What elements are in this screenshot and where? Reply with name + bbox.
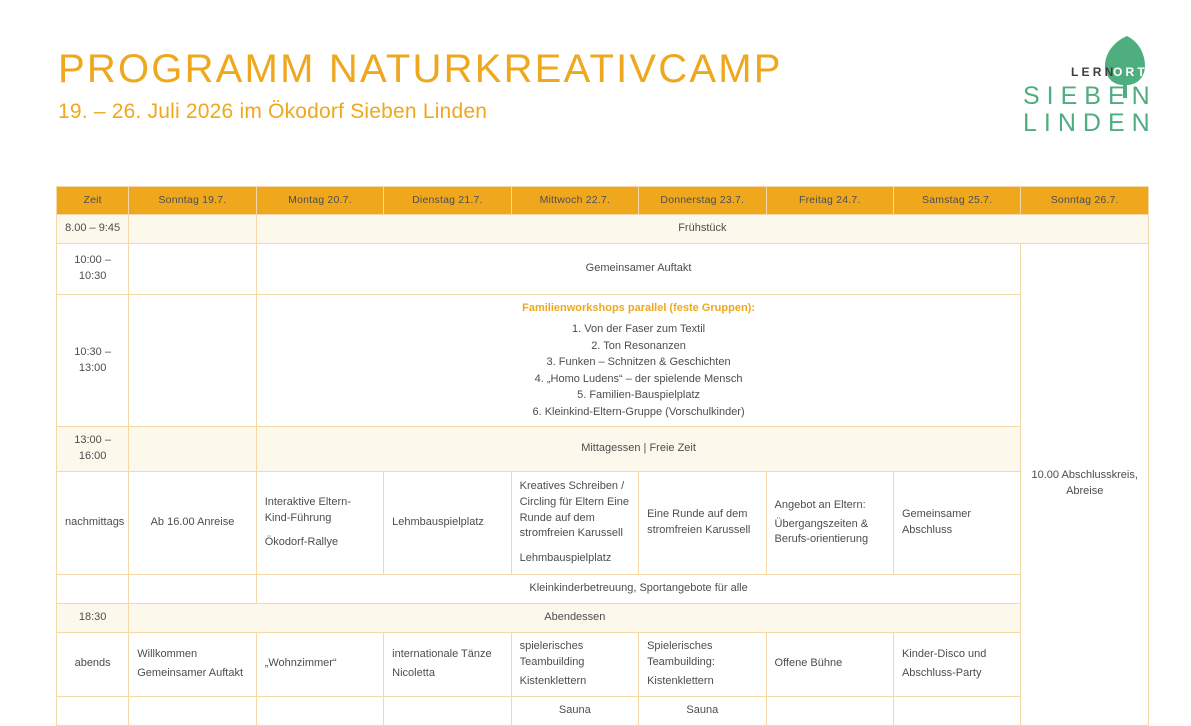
cell-workshops-sunday19 bbox=[129, 295, 256, 427]
column-header-mittwoch-22: Mittwoch 22.7. bbox=[511, 187, 638, 215]
time-label-lunch: 13:00 – 16:00 bbox=[57, 427, 129, 472]
workshop-item-1: 1. Von der Faser zum Textil bbox=[265, 321, 1013, 338]
workshop-item-6: 6. Kleinkind-Eltern-Gruppe (Vorschulkind… bbox=[265, 404, 1013, 421]
table-row-lunch: 13:00 – 16:00 Mittagessen | Freie Zeit bbox=[57, 427, 1149, 472]
evening-tuesday-line1: internationale Tänze bbox=[392, 647, 502, 663]
time-label-breakfast: 8.00 – 9:45 bbox=[57, 215, 129, 244]
table-header: Zeit Sonntag 19.7. Montag 20.7. Dienstag… bbox=[57, 187, 1149, 215]
cell-afternoon-tuesday: Lehmbauspielplatz bbox=[384, 471, 511, 574]
column-header-sonntag-26: Sonntag 26.7. bbox=[1021, 187, 1149, 215]
workshop-item-2: 2. Ton Resonanzen bbox=[265, 338, 1013, 355]
time-label-dinner: 18:30 bbox=[57, 603, 129, 632]
afternoon-wednesday-line2: Lehmbauspielplatz bbox=[520, 551, 630, 567]
abschluss-line2: Abreise bbox=[1066, 485, 1103, 497]
cell-sauna-wednesday: Sauna bbox=[511, 696, 638, 725]
logo-sieben-linden: LERN ORT SIEBEN LINDEN bbox=[1009, 34, 1159, 139]
cell-sauna-tuesday bbox=[384, 696, 511, 725]
afternoon-wednesday-line1: Kreatives Schreiben / Circling für Elter… bbox=[520, 479, 630, 543]
afternoon-friday-line2: Übergangszeiten & Berufs-orientierung bbox=[775, 517, 885, 549]
cell-sauna-monday bbox=[256, 696, 383, 725]
workshop-item-4: 4. „Homo Ludens“ – der spielende Mensch bbox=[265, 371, 1013, 388]
cell-breakfast-all: Frühstück bbox=[256, 215, 1148, 244]
logo-ort-text: ORT bbox=[1113, 65, 1148, 79]
evening-saturday-line2: Abschluss-Party bbox=[902, 666, 1012, 682]
cell-evening-monday: „Wohnzimmer“ bbox=[256, 632, 383, 696]
cell-sunday26-abschluss: 10.00 Abschlusskreis, Abreise bbox=[1021, 244, 1149, 725]
cell-lunch-sunday19 bbox=[129, 427, 256, 472]
evening-wednesday-line2: Kistenklettern bbox=[520, 674, 630, 690]
column-header-montag-20: Montag 20.7. bbox=[256, 187, 383, 215]
cell-dinner-all: Abendessen bbox=[129, 603, 1021, 632]
cell-auftakt-common: Gemeinsamer Auftakt bbox=[256, 244, 1021, 295]
page-header: PROGRAMM NATURKREATIVCAMP 19. – 26. Juli… bbox=[0, 0, 1191, 170]
workshops-heading: Familienworkshops parallel (feste Gruppe… bbox=[265, 301, 1013, 317]
cell-evening-thursday: Spielerisches Teambuilding: Kistenklette… bbox=[639, 632, 766, 696]
cell-childcare-all: Kleinkinderbetreuung, Sportangebote für … bbox=[256, 574, 1021, 603]
logo-lern-text: LERN bbox=[1071, 65, 1116, 79]
cell-afternoon-saturday: Gemeinsamer Abschluss bbox=[893, 471, 1020, 574]
afternoon-monday-line1: Interaktive Eltern-Kind-Führung bbox=[265, 495, 375, 527]
workshop-item-5: 5. Familien-Bauspielplatz bbox=[265, 387, 1013, 404]
cell-afternoon-monday: Interaktive Eltern-Kind-Führung Ökodorf-… bbox=[256, 471, 383, 574]
cell-afternoon-sunday19: Ab 16.00 Anreise bbox=[129, 471, 256, 574]
table-row-sauna: Sauna Sauna bbox=[57, 696, 1149, 725]
cell-childcare-sunday19 bbox=[129, 574, 256, 603]
page-subtitle: 19. – 26. Juli 2026 im Ökodorf Sieben Li… bbox=[58, 100, 783, 124]
schedule-table: Zeit Sonntag 19.7. Montag 20.7. Dienstag… bbox=[56, 186, 1149, 726]
evening-thursday-line2: Kistenklettern bbox=[647, 674, 757, 690]
page-title: PROGRAMM NATURKREATIVCAMP bbox=[58, 48, 783, 90]
evening-sunday19-line1: Willkommen bbox=[137, 647, 247, 663]
cell-childcare-time bbox=[57, 574, 129, 603]
logo-linden-text: LINDEN bbox=[1023, 109, 1157, 137]
time-label-evening: abends bbox=[57, 632, 129, 696]
cell-evening-sunday19: Willkommen Gemeinsamer Auftakt bbox=[129, 632, 256, 696]
time-label-auftakt: 10:00 – 10:30 bbox=[57, 244, 129, 295]
table-row-dinner: 18:30 Abendessen bbox=[57, 603, 1149, 632]
column-header-donnerstag-23: Donnerstag 23.7. bbox=[639, 187, 766, 215]
column-header-dienstag-21: Dienstag 21.7. bbox=[384, 187, 511, 215]
workshop-item-3: 3. Funken – Schnitzen & Geschichten bbox=[265, 354, 1013, 371]
cell-sauna-thursday: Sauna bbox=[639, 696, 766, 725]
column-header-zeit: Zeit bbox=[57, 187, 129, 215]
cell-afternoon-friday: Angebot an Eltern: Übergangszeiten & Ber… bbox=[766, 471, 893, 574]
column-header-freitag-24: Freitag 24.7. bbox=[766, 187, 893, 215]
cell-evening-wednesday: spielerisches Teambuilding Kistenkletter… bbox=[511, 632, 638, 696]
cell-sauna-sunday19 bbox=[129, 696, 256, 725]
time-label-afternoon: nachmittags bbox=[57, 471, 129, 574]
cell-breakfast-sunday19 bbox=[129, 215, 256, 244]
cell-workshops-list: Familienworkshops parallel (feste Gruppe… bbox=[256, 295, 1021, 427]
evening-tuesday-line2: Nicoletta bbox=[392, 666, 502, 682]
table-row-childcare: Kleinkinderbetreuung, Sportangebote für … bbox=[57, 574, 1149, 603]
column-header-sonntag-19: Sonntag 19.7. bbox=[129, 187, 256, 215]
cell-evening-tuesday: internationale Tänze Nicoletta bbox=[384, 632, 511, 696]
table-row-workshops: 10:30 – 13:00 Familienworkshops parallel… bbox=[57, 295, 1149, 427]
evening-sunday19-line2: Gemeinsamer Auftakt bbox=[137, 666, 247, 682]
afternoon-friday-line1: Angebot an Eltern: bbox=[775, 498, 885, 514]
table-row-auftakt: 10:00 – 10:30 Gemeinsamer Auftakt 10.00 … bbox=[57, 244, 1149, 295]
schedule-table-container: Zeit Sonntag 19.7. Montag 20.7. Dienstag… bbox=[56, 186, 1149, 726]
cell-evening-saturday: Kinder-Disco und Abschluss-Party bbox=[893, 632, 1020, 696]
evening-saturday-line1: Kinder-Disco und bbox=[902, 647, 1012, 663]
table-row-afternoon: nachmittags Ab 16.00 Anreise Interaktive… bbox=[57, 471, 1149, 574]
evening-wednesday-line1: spielerisches Teambuilding bbox=[520, 639, 630, 671]
cell-sauna-saturday bbox=[893, 696, 1020, 725]
header-row: Zeit Sonntag 19.7. Montag 20.7. Dienstag… bbox=[57, 187, 1149, 215]
table-row-evening: abends Willkommen Gemeinsamer Auftakt „W… bbox=[57, 632, 1149, 696]
cell-auftakt-sunday19 bbox=[129, 244, 256, 295]
column-header-samstag-25: Samstag 25.7. bbox=[893, 187, 1020, 215]
cell-evening-friday: Offene Bühne bbox=[766, 632, 893, 696]
afternoon-monday-line2: Ökodorf-Rallye bbox=[265, 535, 375, 551]
cell-afternoon-wednesday: Kreatives Schreiben / Circling für Elter… bbox=[511, 471, 638, 574]
cell-afternoon-thursday: Eine Runde auf dem stromfreien Karussell bbox=[639, 471, 766, 574]
cell-sauna-time bbox=[57, 696, 129, 725]
cell-lunch-all: Mittagessen | Freie Zeit bbox=[256, 427, 1021, 472]
evening-thursday-line1: Spielerisches Teambuilding: bbox=[647, 639, 757, 671]
table-row-breakfast: 8.00 – 9:45 Frühstück bbox=[57, 215, 1149, 244]
abschluss-line1: 10.00 Abschlusskreis, bbox=[1032, 469, 1138, 481]
time-label-workshops: 10:30 – 13:00 bbox=[57, 295, 129, 427]
title-block: PROGRAMM NATURKREATIVCAMP 19. – 26. Juli… bbox=[58, 48, 783, 124]
cell-sauna-friday bbox=[766, 696, 893, 725]
logo-sieben-text: SIEBEN bbox=[1023, 82, 1157, 110]
table-body: 8.00 – 9:45 Frühstück 10:00 – 10:30 Geme… bbox=[57, 215, 1149, 725]
